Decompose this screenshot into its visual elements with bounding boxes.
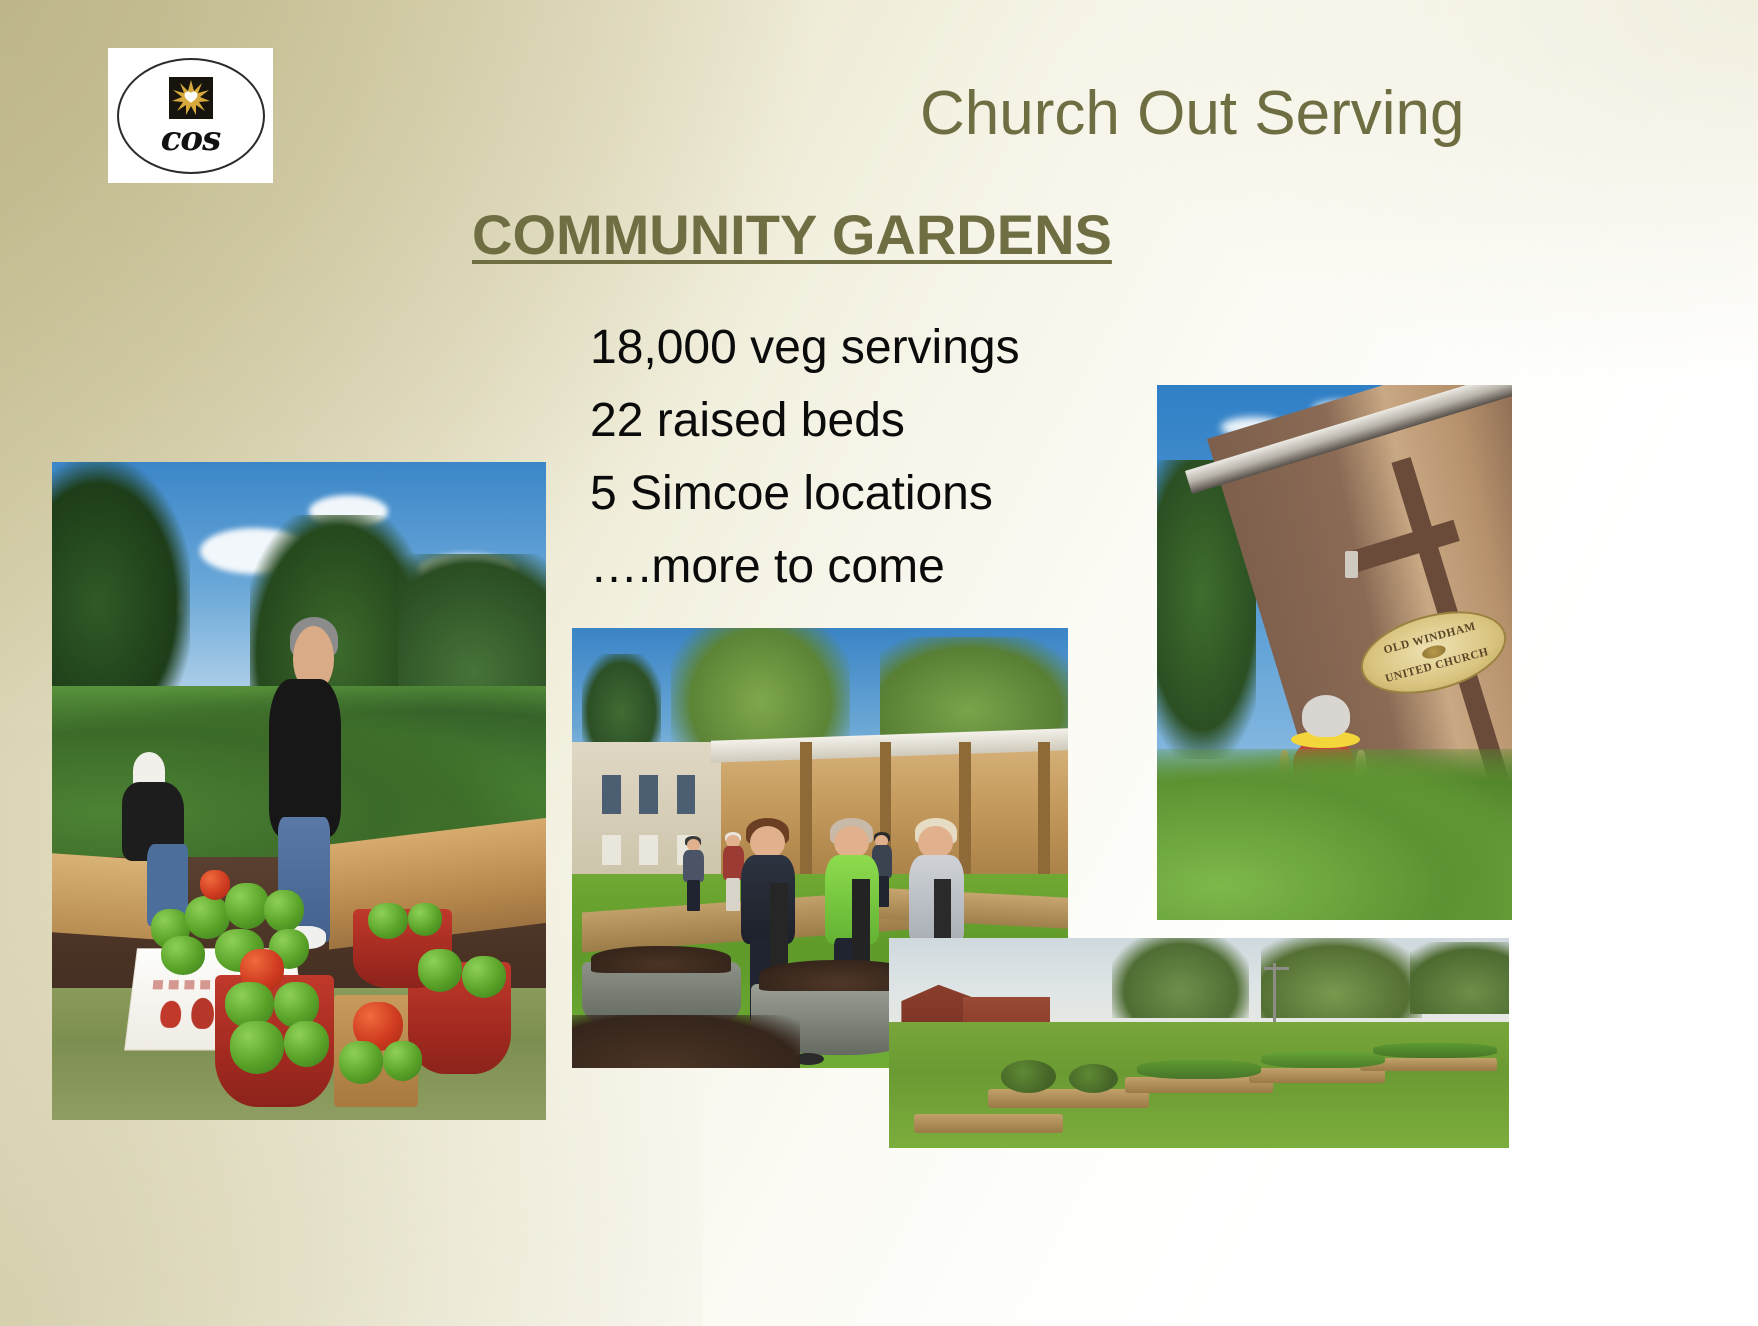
green-pepper <box>408 903 443 936</box>
window <box>602 835 621 865</box>
head <box>834 826 869 859</box>
green-pepper <box>230 1021 284 1074</box>
green-pepper <box>418 949 462 992</box>
crop-row <box>1373 1043 1497 1058</box>
crop-row <box>1137 1060 1261 1079</box>
list-item: ….more to come <box>590 531 1150 604</box>
green-pepper <box>339 1041 383 1084</box>
list-item: 22 raised beds <box>590 385 1150 458</box>
utility-crossbar <box>1264 967 1289 970</box>
tree <box>1261 938 1422 1018</box>
hair <box>1302 695 1350 737</box>
red-pepper <box>200 870 230 900</box>
presentation-slide: cos Church Out Serving COMMUNITY GARDENS… <box>0 0 1758 1326</box>
person-bending <box>111 752 200 923</box>
photo-peppers <box>52 462 546 1120</box>
window <box>677 775 696 814</box>
window <box>602 775 621 814</box>
person-walking <box>681 839 706 909</box>
head <box>918 826 953 859</box>
page-title: COMMUNITY GARDENS <box>472 202 1112 267</box>
wall-lamp <box>1345 551 1357 578</box>
window <box>639 775 658 814</box>
photo-gardenrow <box>889 938 1509 1148</box>
pergola-post <box>800 742 812 883</box>
box-art-pepper <box>160 1001 182 1028</box>
head <box>750 826 785 859</box>
window <box>639 835 658 865</box>
soil-pile <box>572 1015 800 1068</box>
utility-pole <box>1273 963 1276 1026</box>
tree <box>1112 938 1248 1018</box>
legs <box>687 880 701 911</box>
stats-list: 18,000 veg servings 22 raised beds 5 Sim… <box>590 312 1150 604</box>
green-pepper <box>383 1041 423 1080</box>
photo-church: OLD WINDHAM UNITED CHURCH <box>1157 385 1512 920</box>
starburst-heart-icon <box>169 77 213 119</box>
tree <box>880 637 1068 743</box>
list-item: 5 Simcoe locations <box>590 458 1150 531</box>
green-pepper <box>284 1021 328 1067</box>
logo-oval-outline: cos <box>117 58 265 174</box>
raised-bed <box>914 1114 1063 1133</box>
list-item: 18,000 veg servings <box>590 312 1150 385</box>
brick-building <box>572 742 741 892</box>
leafy-crops <box>1157 749 1512 920</box>
box-art-pepper <box>191 998 214 1030</box>
tree <box>582 654 661 751</box>
background-tint-top-right <box>1055 0 1758 398</box>
crop-row <box>1261 1051 1385 1068</box>
tree <box>52 462 190 699</box>
pergola-post <box>1038 742 1050 883</box>
slide-header-title: Church Out Serving <box>920 78 1520 149</box>
logo-wordmark: cos <box>161 122 221 156</box>
person-thumbs-up <box>250 607 359 936</box>
torso <box>683 850 704 882</box>
tree <box>671 628 850 751</box>
green-pepper <box>161 936 205 975</box>
compost-pile <box>591 946 731 973</box>
green-pepper <box>368 903 408 939</box>
cos-logo: cos <box>108 48 273 183</box>
tree <box>1410 942 1509 1013</box>
black-shirt <box>269 679 341 837</box>
